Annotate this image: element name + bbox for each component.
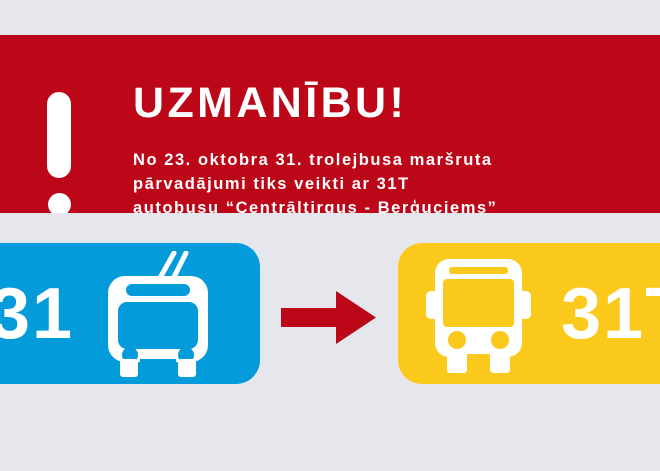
new-route-card: 31T [398, 243, 660, 384]
new-route-number: 31T [561, 278, 660, 350]
bus-icon [426, 255, 531, 373]
exclamation-mark-icon [47, 92, 71, 213]
old-route-number: 31 [0, 278, 74, 350]
alert-body-line-3: autobusu “Centrāltirgus - Berģuciems” [133, 196, 660, 213]
exclamation-dot [48, 193, 71, 213]
old-route-card: 31 [0, 243, 260, 384]
alert-banner: UZMANĪBU! No 23. oktobra 31. trolejbusa … [0, 35, 660, 213]
arrow-right-icon [281, 289, 376, 346]
alert-text-block: UZMANĪBU! No 23. oktobra 31. trolejbusa … [133, 79, 660, 213]
alert-body-line-1: No 23. oktobra 31. trolejbusa maršruta [133, 148, 660, 172]
trolleybus-icon [100, 251, 216, 377]
alert-body: No 23. oktobra 31. trolejbusa maršruta p… [133, 148, 660, 213]
alert-heading: UZMANĪBU! [133, 79, 660, 127]
exclamation-bar [47, 92, 71, 178]
alert-body-line-2: pārvadājumi tiks veikti ar 31T [133, 172, 660, 196]
